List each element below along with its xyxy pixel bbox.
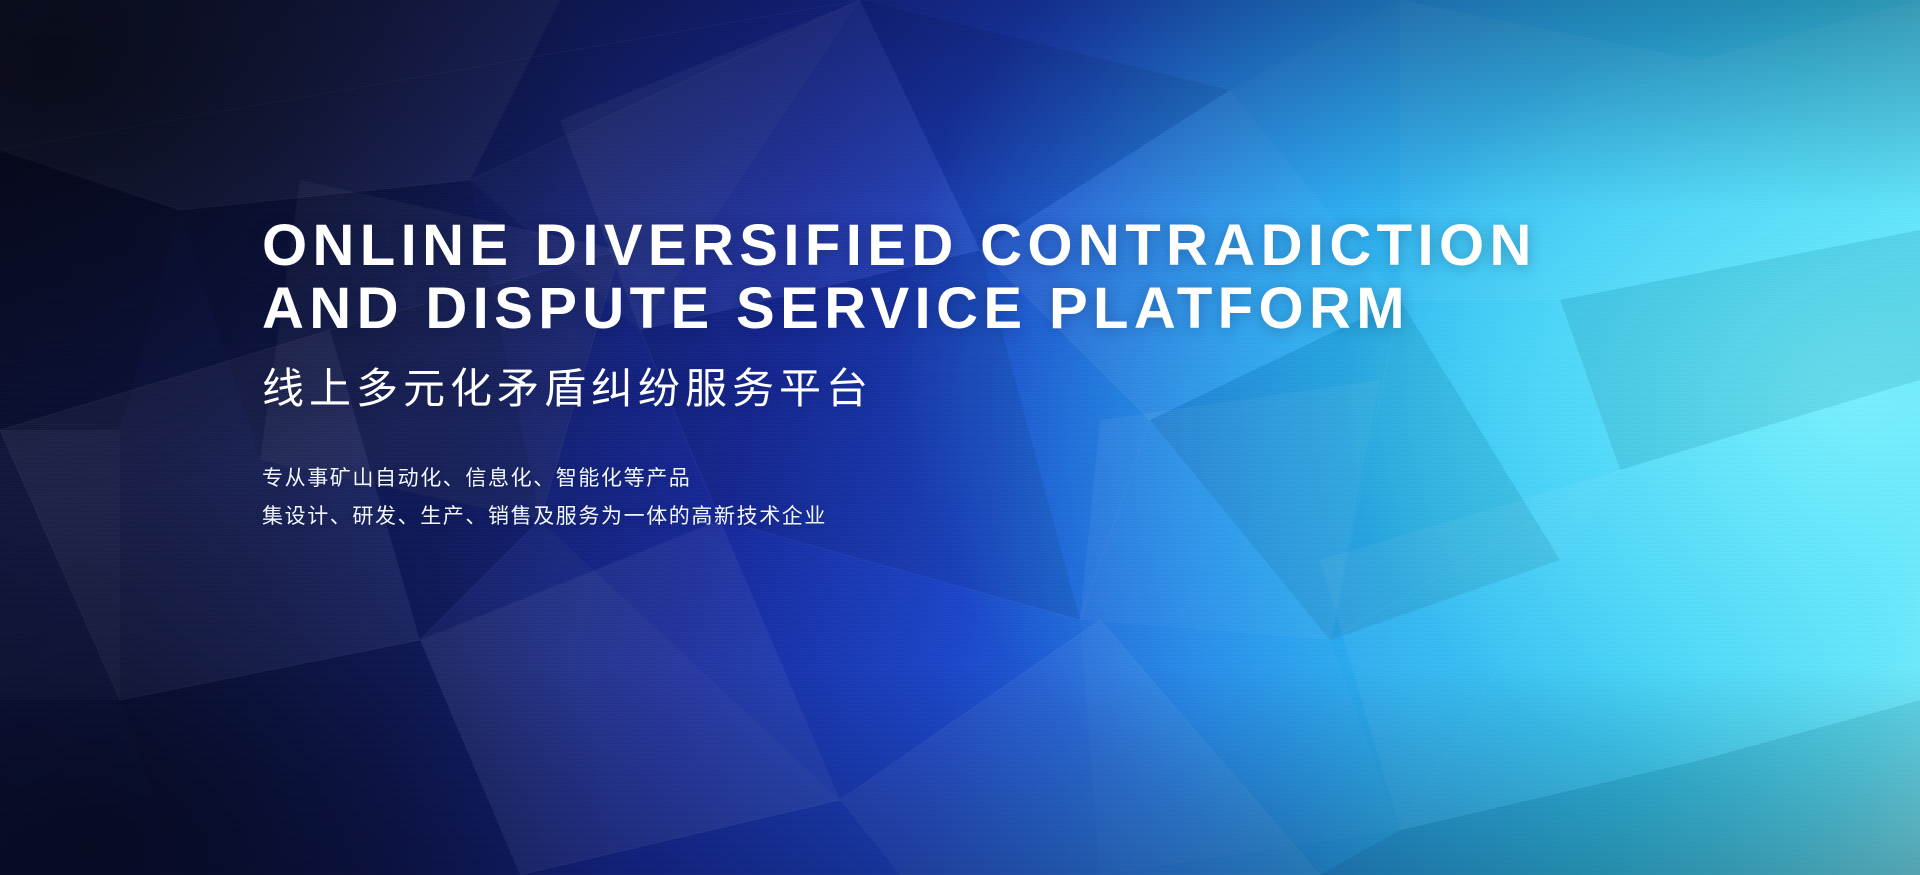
- hero-description: 专从事矿山自动化、信息化、智能化等产品 集设计、研发、生产、销售及服务为一体的高…: [262, 460, 1462, 536]
- hero-headline-english: ONLINE DIVERSIFIED CONTRADICTION AND DIS…: [262, 214, 1462, 340]
- headline-line-2: AND DISPUTE SERVICE PLATFORM: [262, 277, 1462, 340]
- hero-copy-block: ONLINE DIVERSIFIED CONTRADICTION AND DIS…: [262, 214, 1462, 536]
- description-line-2: 集设计、研发、生产、销售及服务为一体的高新技术企业: [262, 498, 1462, 536]
- description-line-1: 专从事矿山自动化、信息化、智能化等产品: [262, 460, 1462, 498]
- headline-line-1: ONLINE DIVERSIFIED CONTRADICTION: [262, 214, 1462, 277]
- hero-subtitle-chinese: 线上多元化矛盾纠纷服务平台: [262, 364, 1462, 414]
- hero-banner: ONLINE DIVERSIFIED CONTRADICTION AND DIS…: [0, 0, 1920, 875]
